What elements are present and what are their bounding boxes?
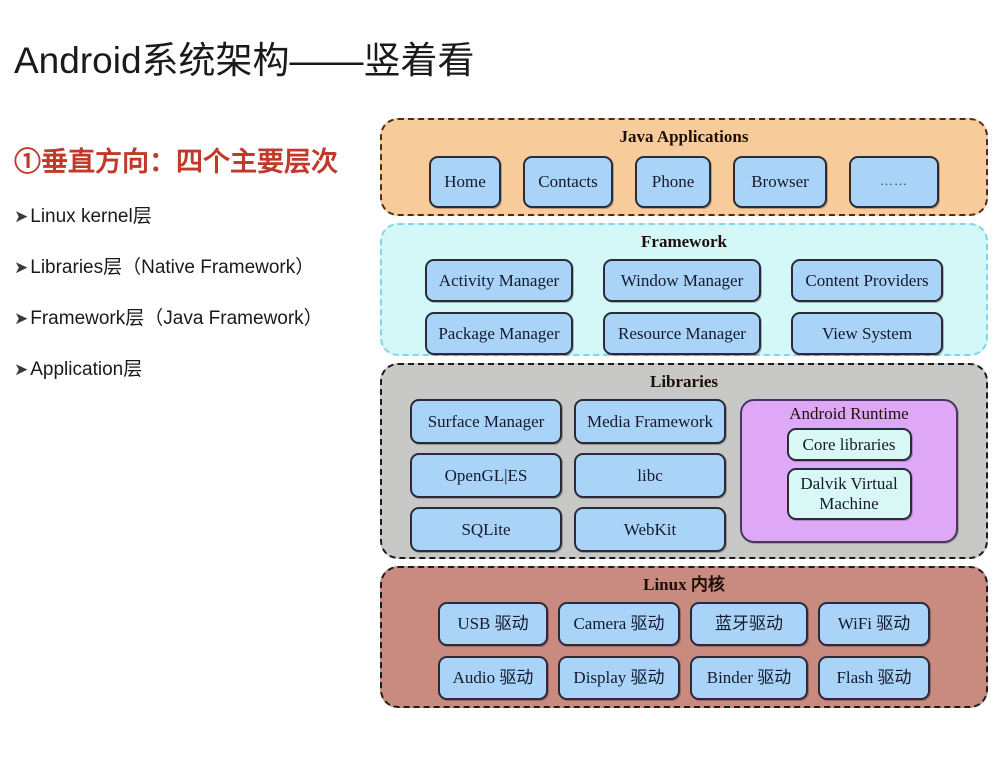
app-node-browser[interactable]: Browser bbox=[733, 156, 827, 208]
bullet-label: Application层 bbox=[30, 354, 142, 381]
kernel-node-display-driver[interactable]: Display 驱动 bbox=[558, 656, 680, 700]
app-node-home[interactable]: Home bbox=[429, 156, 501, 208]
left-panel-heading: ①垂直方向：四个主要层次 bbox=[14, 140, 374, 179]
kernel-node-audio-driver[interactable]: Audio 驱动 bbox=[438, 656, 548, 700]
kernel-node-flash-driver[interactable]: Flash 驱动 bbox=[818, 656, 930, 700]
framework-node-package-manager[interactable]: Package Manager bbox=[425, 312, 573, 355]
bullet-item-libraries: ➤ Libraries层（Native Framework） bbox=[14, 252, 374, 279]
bullet-arrow-icon: ➤ bbox=[14, 208, 28, 225]
framework-node-activity-manager[interactable]: Activity Manager bbox=[425, 259, 573, 302]
left-text-panel: ①垂直方向：四个主要层次 ➤ Linux kernel层 ➤ Libraries… bbox=[14, 140, 374, 405]
kernel-node-wifi-driver[interactable]: WiFi 驱动 bbox=[818, 602, 930, 646]
kernel-node-binder-driver[interactable]: Binder 驱动 bbox=[690, 656, 808, 700]
library-node-opengl-es[interactable]: OpenGL|ES bbox=[410, 453, 562, 498]
library-node-media-framework[interactable]: Media Framework bbox=[574, 399, 726, 444]
app-node-contacts[interactable]: Contacts bbox=[523, 156, 613, 208]
runtime-node-dalvik-vm[interactable]: Dalvik Virtual Machine bbox=[787, 468, 912, 520]
layer-title-libraries: Libraries bbox=[396, 371, 972, 394]
libraries-row-2: OpenGL|ES libc bbox=[410, 453, 726, 498]
layer-title-framework: Framework bbox=[396, 231, 972, 254]
runtime-node-core-libraries[interactable]: Core libraries bbox=[787, 428, 912, 461]
app-node-more[interactable]: …… bbox=[849, 156, 939, 208]
framework-row-2: Package Manager Resource Manager View Sy… bbox=[396, 312, 972, 355]
libraries-grid: Surface Manager Media Framework OpenGL|E… bbox=[410, 399, 726, 552]
bullet-label: Linux kernel层 bbox=[30, 201, 151, 228]
library-node-libc[interactable]: libc bbox=[574, 453, 726, 498]
java-applications-row: Home Contacts Phone Browser …… bbox=[396, 154, 972, 208]
slide-canvas: Android系统架构——竖着看 ①垂直方向：四个主要层次 ➤ Linux ke… bbox=[0, 0, 1003, 768]
kernel-row-1: USB 驱动 Camera 驱动 蓝牙驱动 WiFi 驱动 bbox=[396, 602, 972, 646]
layer-title-java-applications: Java Applications bbox=[396, 126, 972, 149]
layer-framework: Framework Activity Manager Window Manage… bbox=[380, 223, 988, 356]
android-runtime-box: Android Runtime Core libraries Dalvik Vi… bbox=[740, 399, 958, 543]
architecture-stack: Java Applications Home Contacts Phone Br… bbox=[380, 118, 988, 715]
android-runtime-title: Android Runtime bbox=[758, 404, 940, 424]
bullet-item-framework: ➤ Framework层（Java Framework） bbox=[14, 303, 374, 330]
kernel-node-camera-driver[interactable]: Camera 驱动 bbox=[558, 602, 680, 646]
library-node-surface-manager[interactable]: Surface Manager bbox=[410, 399, 562, 444]
framework-node-resource-manager[interactable]: Resource Manager bbox=[603, 312, 761, 355]
libraries-row-1: Surface Manager Media Framework bbox=[410, 399, 726, 444]
layer-libraries: Libraries Surface Manager Media Framewor… bbox=[380, 363, 988, 559]
libraries-content: Surface Manager Media Framework OpenGL|E… bbox=[396, 399, 972, 552]
bullet-label: Framework层（Java Framework） bbox=[30, 303, 322, 330]
library-node-sqlite[interactable]: SQLite bbox=[410, 507, 562, 552]
layer-linux-kernel: Linux 内核 USB 驱动 Camera 驱动 蓝牙驱动 WiFi 驱动 A… bbox=[380, 566, 988, 708]
bullet-item-application: ➤ Application层 bbox=[14, 354, 374, 381]
library-node-webkit[interactable]: WebKit bbox=[574, 507, 726, 552]
bullet-arrow-icon: ➤ bbox=[14, 361, 28, 378]
kernel-node-bluetooth-driver[interactable]: 蓝牙驱动 bbox=[690, 602, 808, 646]
layer-title-linux-kernel: Linux 内核 bbox=[396, 574, 972, 597]
app-node-phone[interactable]: Phone bbox=[635, 156, 711, 208]
framework-node-view-system[interactable]: View System bbox=[791, 312, 943, 355]
bullet-arrow-icon: ➤ bbox=[14, 259, 28, 276]
bullet-item-linux-kernel: ➤ Linux kernel层 bbox=[14, 201, 374, 228]
framework-row-1: Activity Manager Window Manager Content … bbox=[396, 259, 972, 302]
bullet-arrow-icon: ➤ bbox=[14, 310, 28, 327]
kernel-row-2: Audio 驱动 Display 驱动 Binder 驱动 Flash 驱动 bbox=[396, 656, 972, 700]
libraries-row-3: SQLite WebKit bbox=[410, 507, 726, 552]
bullet-label: Libraries层（Native Framework） bbox=[30, 252, 314, 279]
framework-node-window-manager[interactable]: Window Manager bbox=[603, 259, 761, 302]
framework-node-content-providers[interactable]: Content Providers bbox=[791, 259, 943, 302]
layer-java-applications: Java Applications Home Contacts Phone Br… bbox=[380, 118, 988, 216]
page-title: Android系统架构——竖着看 bbox=[14, 30, 475, 84]
kernel-node-usb-driver[interactable]: USB 驱动 bbox=[438, 602, 548, 646]
